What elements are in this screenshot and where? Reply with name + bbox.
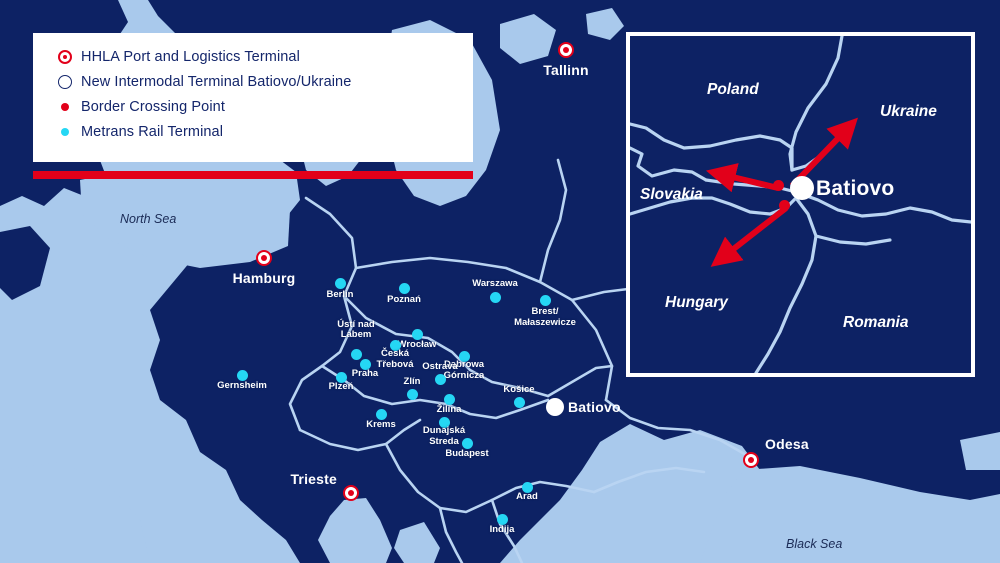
legend-label-new-terminal: New Intermodal Terminal Batiovo/Ukraine xyxy=(81,75,351,90)
hhla-port-icon xyxy=(55,47,81,69)
inset-country-label-ukraine: Ukraine xyxy=(880,103,937,121)
inset-country-label-slovakia: Slovakia xyxy=(640,186,703,204)
legend-label-border-crossing: Border Crossing Point xyxy=(81,100,225,115)
legend-accent-bar xyxy=(33,171,473,179)
inset-country-label-poland: Poland xyxy=(707,81,759,99)
hhla-port-icon xyxy=(256,250,272,266)
metrans-dot-icon xyxy=(376,409,387,420)
arrow-to-hungary xyxy=(722,208,786,258)
new-terminal-label: Batiovo xyxy=(568,399,621,415)
inset-country-label-hungary: Hungary xyxy=(665,294,728,312)
border-crossing-west-dot xyxy=(773,180,784,191)
map-figure: North Sea Black Sea BerlinPoznańWarszawa… xyxy=(0,0,1000,563)
inset-arrow-layer xyxy=(630,36,971,373)
metrans-dot-icon xyxy=(335,278,346,289)
city-label: Indija xyxy=(442,525,562,536)
new-terminal-icon xyxy=(546,398,564,416)
metrans-dot-icon xyxy=(497,514,508,525)
metrans-dot-icon xyxy=(462,438,473,449)
inset-batiovo-label: Batiovo xyxy=(816,177,894,201)
hhla-port-icon xyxy=(743,452,759,468)
inset-country-label-romania: Romania xyxy=(843,314,908,332)
city-label: Košice xyxy=(459,385,579,396)
metrans-dot-icon xyxy=(490,292,501,303)
border-point-icon xyxy=(55,97,81,119)
sea-label-north-sea: North Sea xyxy=(120,212,176,226)
city-label: Žilina xyxy=(389,405,509,416)
border-crossing-south-dot xyxy=(779,200,790,211)
legend-item-hhla-port[interactable]: HHLA Port and Logistics Terminal xyxy=(33,45,473,70)
new-terminal-icon xyxy=(55,72,81,94)
metrans-dot-icon xyxy=(237,370,248,381)
city-label: Budapest xyxy=(407,449,527,460)
metrans-dot-icon xyxy=(514,397,525,408)
legend-item-metrans-rail[interactable]: Metrans Rail Terminal xyxy=(33,120,473,145)
metrans-dot-icon xyxy=(399,283,410,294)
city-label: Brest/Małaszewicze xyxy=(485,307,605,328)
metrans-dot-icon xyxy=(444,394,455,405)
hhla-port-icon xyxy=(558,42,574,58)
city-label: Warszawa xyxy=(435,279,555,290)
legend-label-metrans-rail: Metrans Rail Terminal xyxy=(81,125,223,140)
city-label: Ústí nadLabem xyxy=(296,320,416,341)
inset-detail-map: PolandUkraineSlovakiaHungaryRomania Bati… xyxy=(626,32,975,377)
metrans-dot-icon xyxy=(540,295,551,306)
map-legend: HHLA Port and Logistics Terminal New Int… xyxy=(33,33,473,162)
legend-item-border-crossing[interactable]: Border Crossing Point xyxy=(33,95,473,120)
inset-batiovo-marker xyxy=(790,176,814,200)
arrow-to-slovakia xyxy=(720,174,778,188)
city-label: Arad xyxy=(467,492,587,503)
city-label: DunajskáStreda xyxy=(384,426,504,447)
port-label: Hamburg xyxy=(204,270,324,286)
legend-label-hhla-port: HHLA Port and Logistics Terminal xyxy=(81,50,300,65)
city-label: Zlín xyxy=(352,377,472,388)
legend-item-new-terminal[interactable]: New Intermodal Terminal Batiovo/Ukraine xyxy=(33,70,473,95)
port-label: Tallinn xyxy=(506,62,626,78)
city-label: Gernsheim xyxy=(182,381,302,392)
metrans-dot-icon xyxy=(412,329,423,340)
metrans-dot-icon xyxy=(55,122,81,144)
city-label: Poznań xyxy=(344,295,464,306)
port-label: Trieste xyxy=(290,471,337,487)
city-label: Ostrava xyxy=(380,362,500,373)
metrans-dot-icon xyxy=(407,389,418,400)
hhla-port-icon xyxy=(343,485,359,501)
sea-label-black-sea: Black Sea xyxy=(786,537,842,551)
port-label: Odesa xyxy=(765,436,809,452)
